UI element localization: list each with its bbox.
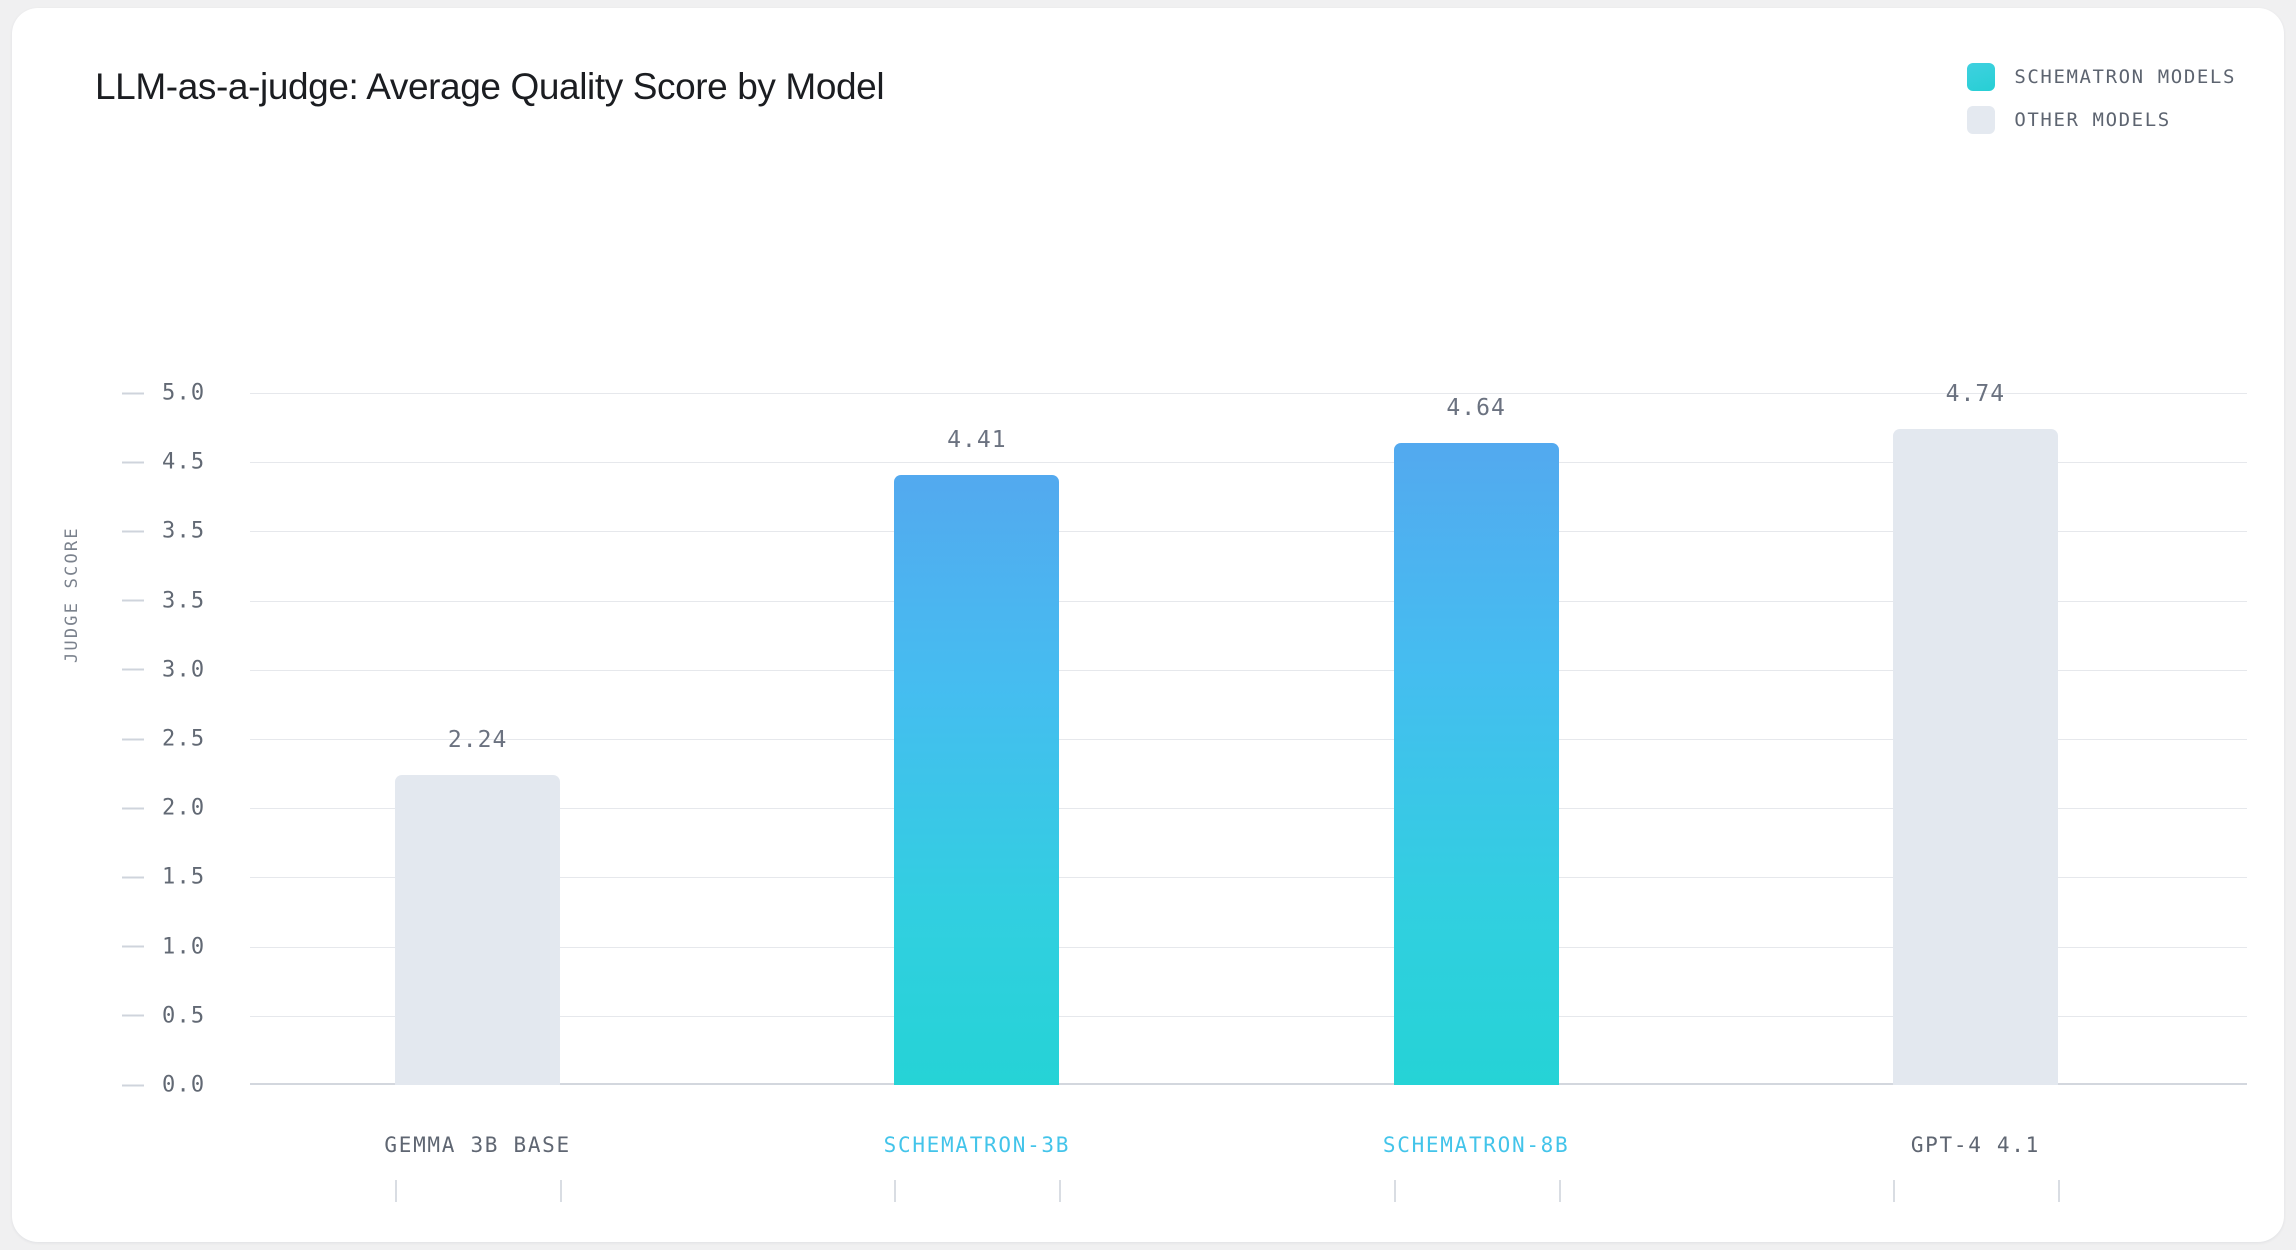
y-axis-tick: 0.0 — [122, 1073, 205, 1098]
x-axis-tick — [1893, 1180, 1895, 1202]
y-tick-label: 2.5 — [162, 727, 205, 752]
bar-value-label: 4.64 — [1446, 395, 1505, 421]
x-axis-tick — [894, 1180, 896, 1202]
y-tick-dash-icon — [122, 876, 144, 878]
x-axis-tick — [560, 1180, 562, 1202]
y-tick-label: 5.0 — [162, 381, 205, 406]
y-tick-dash-icon — [122, 392, 144, 394]
y-tick-dash-icon — [122, 1084, 144, 1086]
y-axis-tick: 1.5 — [122, 865, 205, 890]
plot-area: 5.04.53.53.53.02.52.01.51.00.50.02.24GEM… — [250, 393, 2247, 1085]
y-tick-label: 1.0 — [162, 934, 205, 959]
bar-value-label: 2.24 — [448, 727, 507, 753]
x-axis-label: GEMMA 3B BASE — [384, 1133, 570, 1157]
y-tick-dash-icon — [122, 1015, 144, 1017]
legend-item-other[interactable]: OTHER MODELS — [1967, 106, 2170, 134]
y-tick-dash-icon — [122, 461, 144, 463]
chart-legend: SCHEMATRON MODELS OTHER MODELS — [1967, 63, 2236, 134]
y-tick-dash-icon — [122, 669, 144, 671]
bar-value-label: 4.41 — [947, 427, 1006, 453]
y-tick-dash-icon — [122, 946, 144, 948]
y-tick-dash-icon — [122, 738, 144, 740]
x-axis-tick — [2058, 1180, 2060, 1202]
y-axis-tick: 3.0 — [122, 657, 205, 682]
bar-gemma-3b-base[interactable] — [395, 775, 560, 1085]
bar-schematron-3b[interactable] — [894, 475, 1059, 1085]
y-tick-label: 2.0 — [162, 796, 205, 821]
y-axis-tick: 3.5 — [122, 588, 205, 613]
bar-value-label: 4.74 — [1946, 381, 2005, 407]
y-axis-tick: 2.0 — [122, 796, 205, 821]
legend-label-other: OTHER MODELS — [2014, 109, 2170, 131]
chart-page: LLM-as-a-judge: Average Quality Score by… — [0, 0, 2296, 1250]
page-title: LLM-as-a-judge: Average Quality Score by… — [95, 66, 884, 108]
bar-gpt-4-4-1[interactable] — [1893, 429, 2058, 1085]
legend-label-schematron: SCHEMATRON MODELS — [2014, 66, 2236, 88]
legend-item-schematron[interactable]: SCHEMATRON MODELS — [1967, 63, 2236, 91]
legend-swatch-icon-schematron — [1967, 63, 1995, 91]
y-tick-label: 3.5 — [162, 519, 205, 544]
y-tick-label: 0.0 — [162, 1073, 205, 1098]
y-axis-tick: 1.0 — [122, 934, 205, 959]
bar-schematron-8b[interactable] — [1394, 443, 1559, 1085]
x-axis-tick — [1394, 1180, 1396, 1202]
x-axis-tick — [395, 1180, 397, 1202]
x-axis-label: GPT-4 4.1 — [1911, 1133, 2040, 1157]
legend-swatch-icon-other — [1967, 106, 1995, 134]
y-axis-tick: 3.5 — [122, 519, 205, 544]
y-tick-dash-icon — [122, 807, 144, 809]
y-tick-label: 0.5 — [162, 1003, 205, 1028]
x-axis-tick — [1559, 1180, 1561, 1202]
x-axis-label: SCHEMATRON-8B — [1383, 1133, 1569, 1157]
y-tick-dash-icon — [122, 600, 144, 602]
y-axis-tick: 0.5 — [122, 1003, 205, 1028]
x-axis-label: SCHEMATRON-3B — [884, 1133, 1070, 1157]
y-tick-label: 3.5 — [162, 588, 205, 613]
y-tick-dash-icon — [122, 530, 144, 532]
y-axis-tick: 5.0 — [122, 381, 205, 406]
chart-card: LLM-as-a-judge: Average Quality Score by… — [12, 8, 2284, 1242]
x-axis-tick — [1059, 1180, 1061, 1202]
y-axis-tick: 4.5 — [122, 450, 205, 475]
y-tick-label: 1.5 — [162, 865, 205, 890]
y-axis-title: JUDGE SCORE — [62, 526, 82, 663]
y-tick-label: 3.0 — [162, 657, 205, 682]
y-axis-tick: 2.5 — [122, 727, 205, 752]
y-tick-label: 4.5 — [162, 450, 205, 475]
